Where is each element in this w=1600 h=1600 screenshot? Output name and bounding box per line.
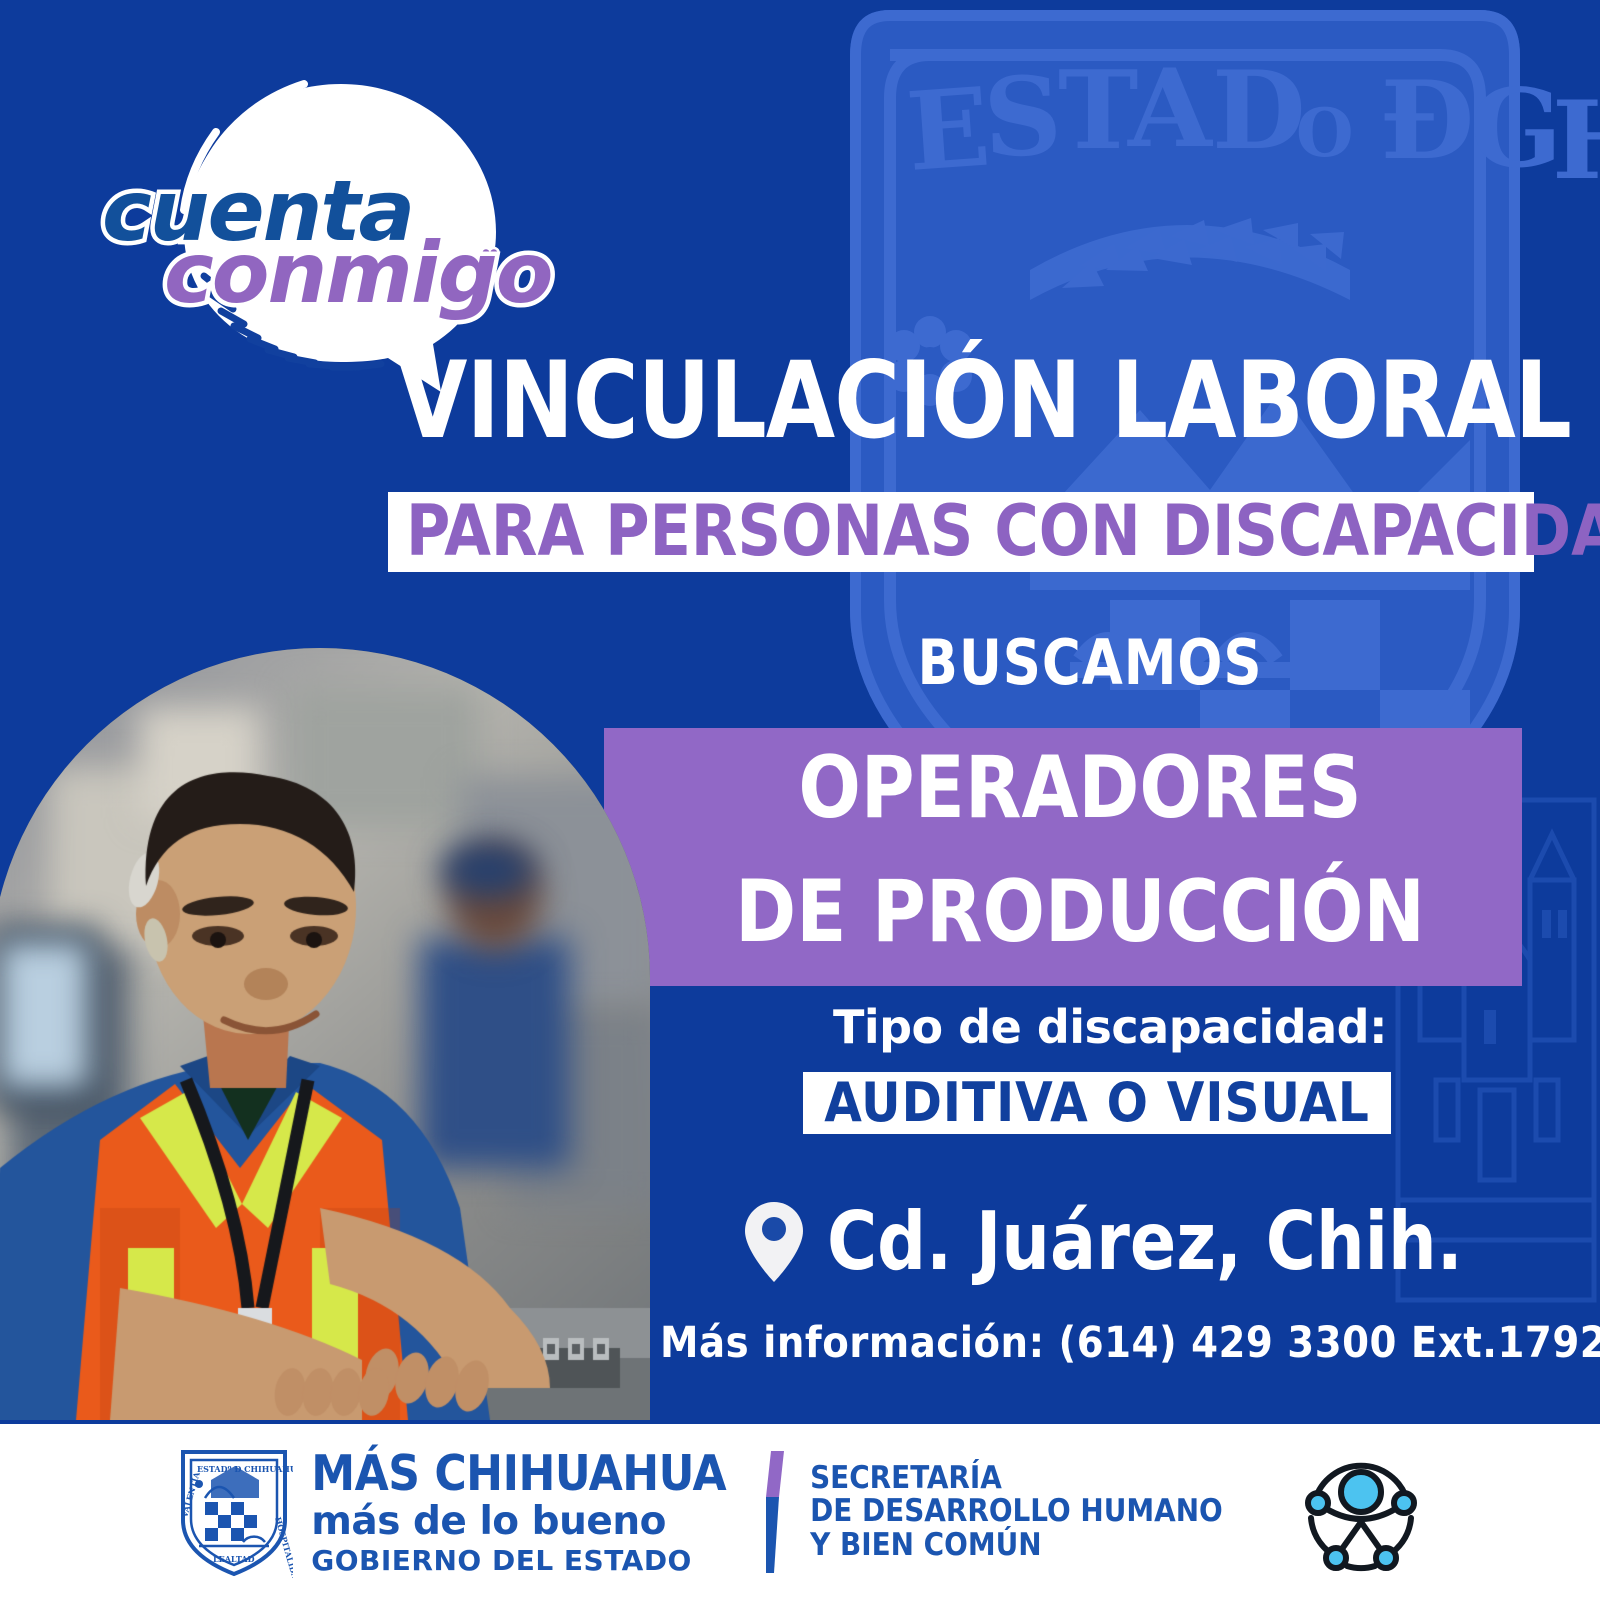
headline-sub: PARA PERSONAS CON DISCAPACIDAD bbox=[406, 490, 1600, 572]
location-pin-icon bbox=[743, 1200, 805, 1284]
footer-bar: ESTADº Ð CHIHUAHUA VALENTIA HOSPITALIDAD… bbox=[0, 1424, 1600, 1600]
headline-subtitle-bar: PARA PERSONAS CON DISCAPACIDAD bbox=[388, 492, 1534, 572]
disability-value: AUDITIVA O VISUAL bbox=[803, 1071, 1391, 1135]
gov-line1: MÁS CHIHUAHUA bbox=[311, 1449, 726, 1498]
chihuahua-shield-emblem: ESTADº Ð CHIHUAHUA VALENTIA HOSPITALIDAD… bbox=[175, 1446, 293, 1578]
gov-logo: ESTADº Ð CHIHUAHUA VALENTIA HOSPITALIDAD… bbox=[175, 1446, 726, 1578]
svg-text:LEALTAD: LEALTAD bbox=[213, 1554, 255, 1564]
svg-text:ESTADº Ð CHIHUAHUA: ESTADº Ð CHIHUAHUA bbox=[197, 1464, 293, 1474]
disability-value-bar: AUDITIVA O VISUAL bbox=[803, 1072, 1391, 1134]
svg-text:D: D bbox=[1212, 48, 1306, 174]
vertical-divider-bar bbox=[766, 1451, 784, 1573]
secretariat-line2: DE DESARROLLO HUMANO bbox=[810, 1495, 1223, 1528]
svg-text:T: T bbox=[1058, 48, 1138, 174]
secretariat-line1: SECRETARÍA bbox=[810, 1462, 1223, 1495]
svg-text:G: G bbox=[1470, 66, 1562, 192]
logo-line2: conmigo bbox=[164, 224, 551, 322]
location-text: Cd. Juárez, Chih. bbox=[827, 1195, 1463, 1288]
svg-text:E: E bbox=[903, 65, 994, 196]
job-title: OPERADORES DE PRODUCCIÓN bbox=[662, 726, 1498, 974]
job-lead: BUSCAMOS bbox=[682, 630, 1499, 696]
gov-wordmark: MÁS CHIHUAHUA más de lo bueno GOBIERNO D… bbox=[311, 1449, 726, 1575]
svg-text:A: A bbox=[1127, 46, 1214, 172]
svg-text:S: S bbox=[982, 53, 1064, 182]
secretariat-line3: Y BIEN COMÚN bbox=[810, 1529, 1223, 1562]
contact-info: Más información: (614) 429 3300 Ext.1792… bbox=[660, 1318, 1540, 1368]
svg-text:Ð: Ð bbox=[1380, 58, 1474, 184]
secretariat-wordmark: SECRETARÍA DE DESARROLLO HUMANO Y BIEN C… bbox=[810, 1462, 1223, 1562]
network-nodes-icon bbox=[1297, 1448, 1425, 1576]
location-row: Cd. Juárez, Chih. bbox=[700, 1195, 1540, 1288]
svg-text:O: O bbox=[1296, 94, 1354, 172]
disability-label: Tipo de discapacidad: bbox=[700, 1000, 1520, 1054]
svg-text:H: H bbox=[1552, 78, 1600, 204]
worker-photo bbox=[0, 648, 650, 1420]
page-title: VINCULACIÓN LABORAL bbox=[398, 352, 1538, 450]
poster-canvas: E S T A D O Ð G H bbox=[0, 0, 1600, 1600]
job-title-line2: DE PRODUCCIÓN bbox=[662, 850, 1498, 974]
headline-main: VINCULACIÓN LABORAL bbox=[398, 352, 1470, 450]
gov-line2: más de lo bueno bbox=[311, 1502, 726, 1541]
gov-line3: GOBIERNO DEL ESTADO bbox=[311, 1547, 726, 1575]
watermark-shield-text: E S T A D O Ð G H bbox=[903, 46, 1600, 204]
job-title-line1: OPERADORES bbox=[662, 726, 1498, 850]
